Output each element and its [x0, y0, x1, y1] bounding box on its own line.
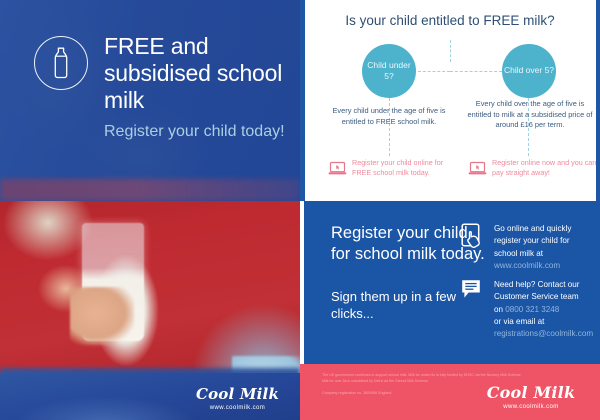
laptop-icon — [468, 161, 487, 176]
connector-stem — [450, 40, 451, 62]
hero-headline: FREE and subsidised school milk — [104, 33, 289, 114]
info-need-help-text: Need help? Contact our Customer Service … — [494, 279, 593, 340]
connector-right-arm — [450, 71, 502, 72]
logo-url: www.coolmilk.com — [476, 404, 586, 410]
info-need-help-line2: Customer Service team — [494, 292, 579, 301]
flow-cta-over5[interactable]: Register online now and you can pay stra… — [468, 158, 598, 179]
hero-photo-red-edge — [0, 179, 300, 201]
logo-wordmark: Cool Milk — [185, 385, 290, 403]
logo-bottom-right[interactable]: Cool Milk www.coolmilk.com — [476, 383, 586, 410]
info-phone-prefix: on — [494, 305, 505, 314]
flow-circle-under5-label: Child under 5? — [362, 60, 416, 83]
child-hand — [70, 287, 134, 345]
milk-bottle-icon — [34, 36, 88, 90]
info-email-address[interactable]: registrations@coolmilk.com — [494, 329, 593, 338]
register-left-edge — [300, 201, 304, 366]
flowchart-left-rail — [300, 0, 305, 201]
logo-bottom-left[interactable]: Cool Milk www.coolmilk.com — [185, 385, 290, 411]
chat-bubble-icon — [461, 279, 485, 305]
logo-url: www.coolmilk.com — [185, 405, 290, 411]
logo-wordmark: Cool Milk — [476, 383, 586, 402]
flow-circle-over5-label: Child over 5? — [504, 65, 554, 76]
flow-cta-under5[interactable]: Register your child online for FREE scho… — [328, 158, 460, 179]
laptop-icon — [328, 161, 347, 176]
flow-circle-under5: Child under 5? — [362, 44, 416, 98]
flow-cta-under5-text: Register your child online for FREE scho… — [352, 158, 460, 179]
hero-panel: FREE and subsidised school milk Register… — [0, 0, 300, 201]
poster-canvas: FREE and subsidised school milk Register… — [0, 0, 600, 420]
info-go-online-text: Go online and quickly register your chil… — [494, 223, 571, 272]
info-go-online-line3: school milk at — [494, 249, 543, 258]
flow-desc-over5: Every child over the age of five is enti… — [466, 99, 594, 131]
info-go-online-line1: Go online and quickly — [494, 224, 571, 233]
legal-footer-bar: The UK government continues to support s… — [300, 364, 600, 420]
tablet-tap-icon — [461, 223, 485, 249]
info-phone-number[interactable]: 0800 321 3248 — [505, 305, 559, 314]
flow-cta-over5-text: Register online now and you can pay stra… — [492, 158, 598, 179]
legal-paragraph: The UK government continues to support s… — [322, 373, 522, 383]
info-need-help[interactable]: Need help? Contact our Customer Service … — [461, 279, 599, 340]
info-go-online-line2: register your child for — [494, 236, 570, 245]
child-photo-panel: Cool Milk www.coolmilk.com — [0, 201, 300, 420]
info-need-help-line4: or via email at — [494, 317, 544, 326]
hero-subheadline: Register your child today! — [104, 122, 294, 141]
flowchart-panel: Is your child entitled to FREE milk? Chi… — [300, 0, 600, 201]
register-panel: Register your child for school milk toda… — [300, 201, 600, 420]
info-need-help-line1: Need help? Contact our — [494, 280, 580, 289]
flow-desc-under5: Every child under the age of five is ent… — [325, 106, 453, 127]
info-website-link[interactable]: www.coolmilk.com — [494, 261, 560, 270]
flowchart-title: Is your child entitled to FREE milk? — [300, 13, 600, 28]
info-go-online[interactable]: Go online and quickly register your chil… — [461, 223, 595, 272]
flow-circle-over5: Child over 5? — [502, 44, 556, 98]
